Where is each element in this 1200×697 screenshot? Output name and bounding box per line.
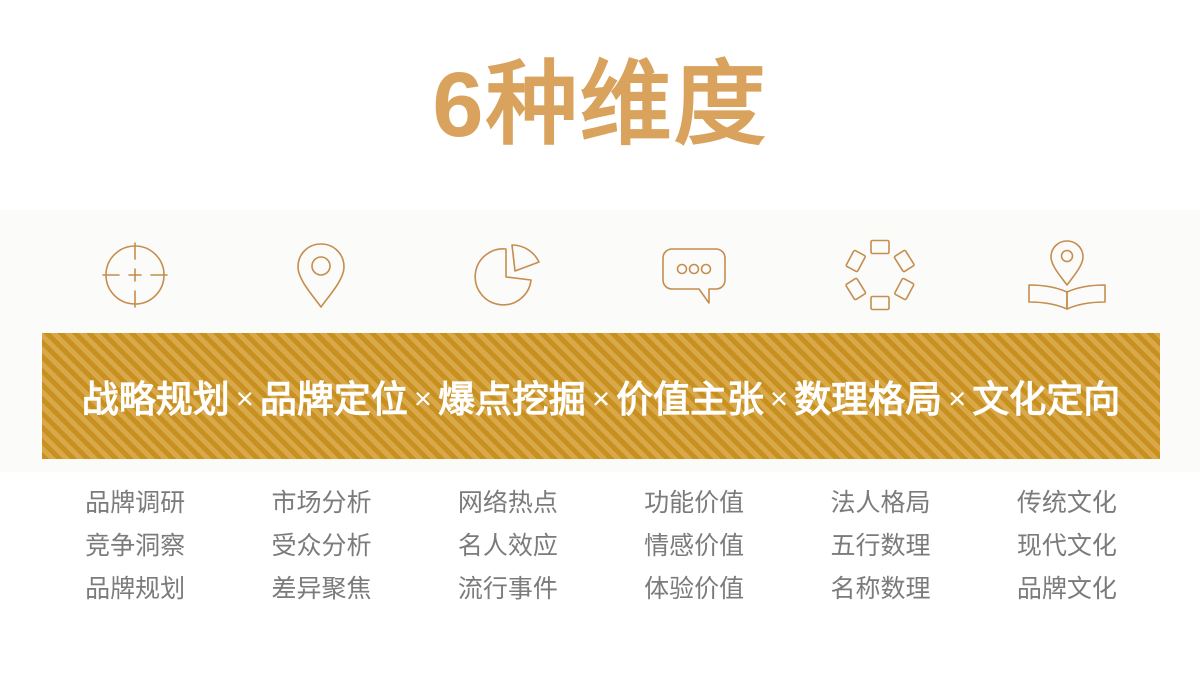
dimension-item: 法人格局	[830, 482, 930, 525]
dimension-column: 市场分析受众分析差异聚焦	[228, 482, 414, 622]
dimension-item: 现代文化	[1017, 525, 1117, 568]
dimension-column: 功能价值情感价值体验价值	[601, 482, 787, 622]
dimension-column: 网络热点名人效应流行事件	[415, 482, 601, 622]
dimension-item: 传统文化	[1017, 482, 1117, 525]
dimension-item: 名称数理	[830, 568, 930, 611]
banner-separator: ×	[942, 381, 972, 416]
rotating-squares-circle-icon	[830, 225, 930, 325]
dimension-item: 名人效应	[458, 525, 558, 568]
striped-banner: 战略规划×品牌定位×爆点挖掘×价值主张×数理格局×文化定向	[42, 333, 1160, 459]
banner-text: 战略规划×品牌定位×爆点挖掘×价值主张×数理格局×文化定向	[82, 369, 1121, 423]
banner-item: 爆点挖掘	[438, 379, 586, 420]
page-title: 6种维度	[432, 59, 767, 151]
columns-grid: 品牌调研竞争洞察品牌规划市场分析受众分析差异聚焦网络热点名人效应流行事件功能价值…	[42, 482, 1160, 622]
banner-item: 文化定向	[972, 379, 1120, 420]
banner-separator: ×	[408, 381, 438, 416]
banner-item: 品牌定位	[260, 379, 408, 420]
banner-item: 战略规划	[82, 379, 230, 420]
infographic-slide: 6种维度	[0, 0, 1200, 697]
dimension-item: 功能价值	[644, 482, 744, 525]
dimension-item: 竞争洞察	[85, 525, 185, 568]
dimension-item: 品牌规划	[85, 568, 185, 611]
dimension-item: 受众分析	[271, 525, 371, 568]
crosshair-target-icon	[85, 225, 185, 325]
banner-separator: ×	[230, 381, 260, 416]
dimension-item: 品牌调研	[85, 482, 185, 525]
dimension-item: 网络热点	[458, 482, 558, 525]
banner-item: 价值主张	[616, 379, 764, 420]
title-section: 6种维度	[0, 0, 1200, 210]
pie-chart-icon	[458, 225, 558, 325]
banner-separator: ×	[764, 381, 794, 416]
speech-bubble-dots-icon	[644, 225, 744, 325]
dimension-item: 情感价值	[644, 525, 744, 568]
map-pin-icon	[271, 225, 371, 325]
dimension-item: 品牌文化	[1017, 568, 1117, 611]
open-book-pin-icon	[1017, 225, 1117, 325]
dimension-item: 流行事件	[458, 568, 558, 611]
dimension-column: 法人格局五行数理名称数理	[787, 482, 973, 622]
icon-row	[42, 220, 1160, 330]
dimension-item: 差异聚焦	[271, 568, 371, 611]
dimension-item: 体验价值	[644, 568, 744, 611]
dimension-column: 品牌调研竞争洞察品牌规划	[42, 482, 228, 622]
dimension-item: 市场分析	[271, 482, 371, 525]
dimension-item: 五行数理	[830, 525, 930, 568]
dimension-column: 传统文化现代文化品牌文化	[974, 482, 1160, 622]
banner-item: 数理格局	[794, 379, 942, 420]
banner-separator: ×	[586, 381, 616, 416]
